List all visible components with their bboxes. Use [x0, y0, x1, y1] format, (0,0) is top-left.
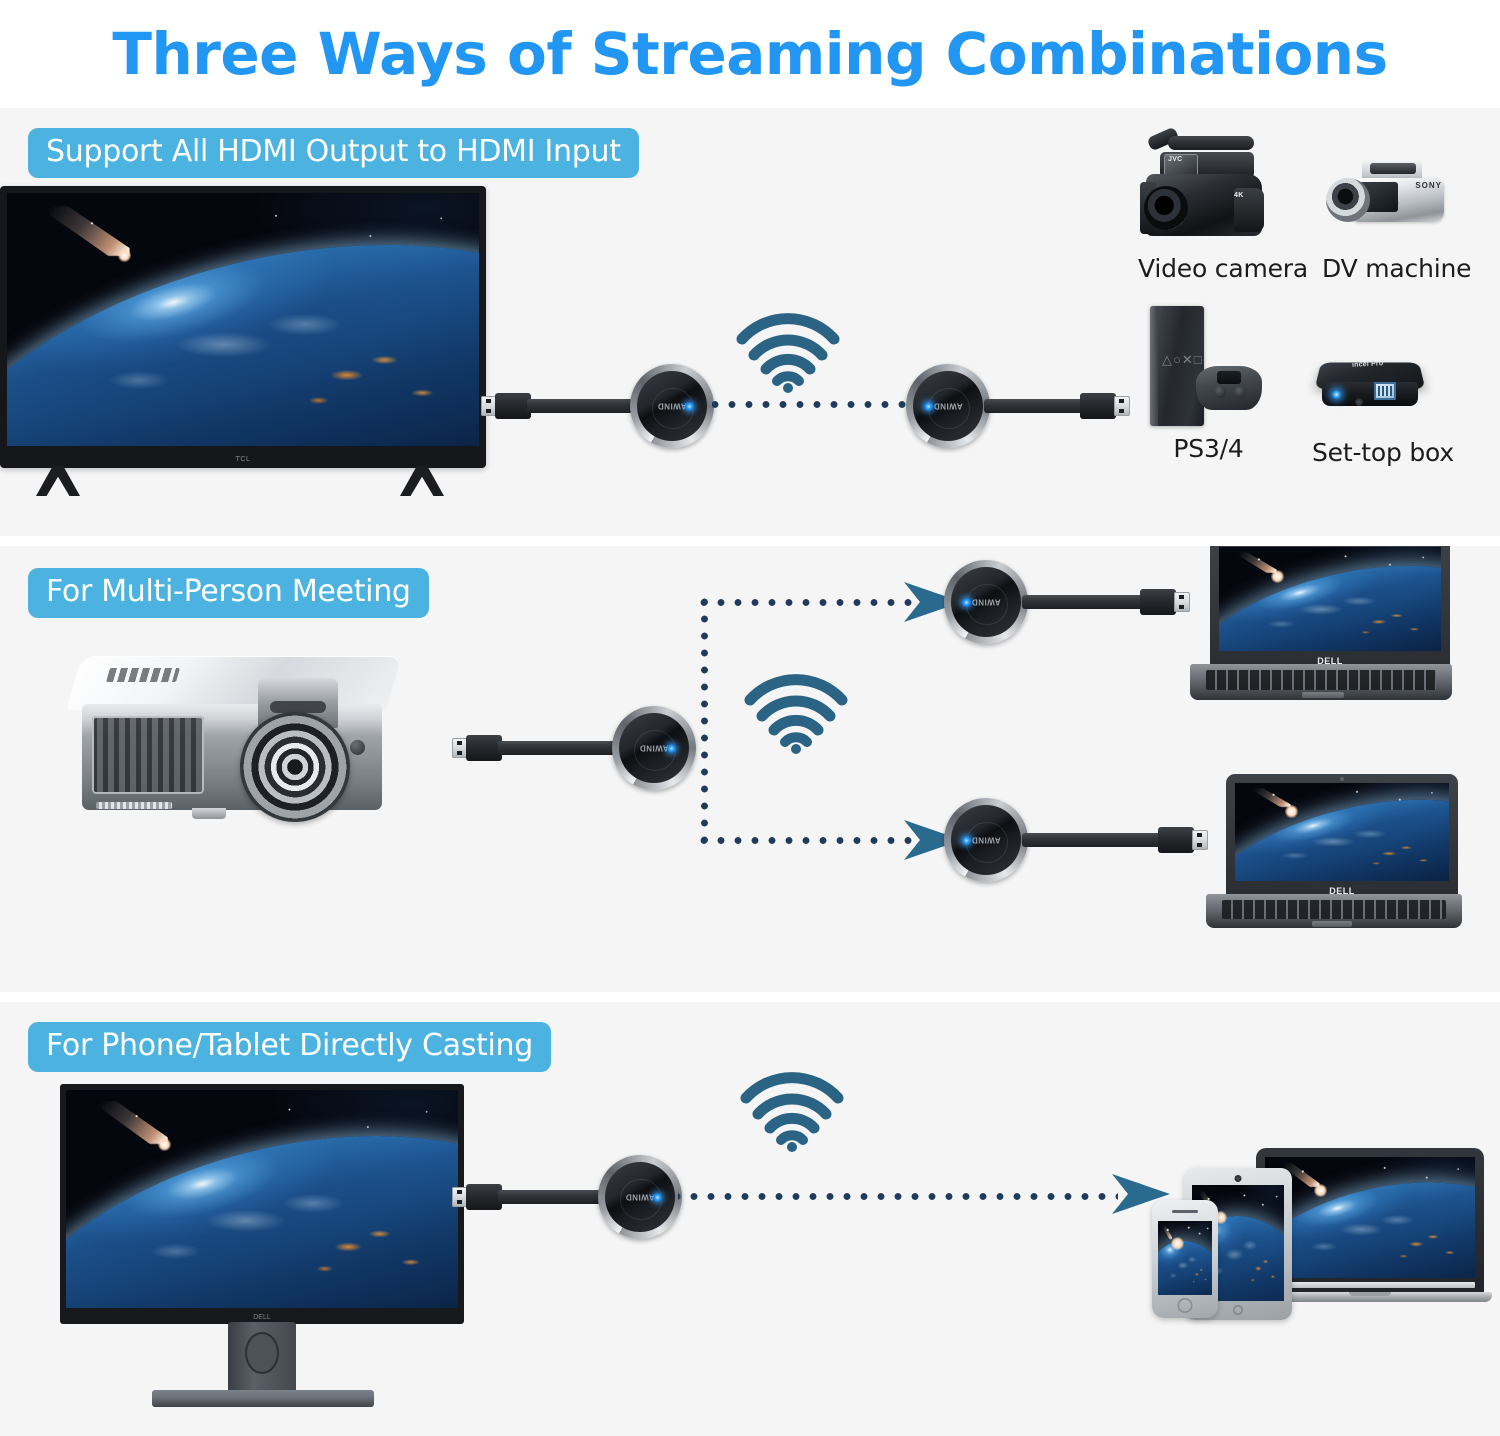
source-caption-dv-machine: DV machine [1322, 254, 1452, 283]
dongle-brand-mark: AWIND [625, 1193, 654, 1202]
section-label-meeting: For Multi-Person Meeting [28, 568, 429, 618]
camcorder-handle [1168, 136, 1254, 150]
camcorder-lens [1144, 186, 1188, 230]
tv-leg-right [400, 466, 444, 496]
laptop-bottom: DELL [1212, 774, 1444, 898]
gamepad-stick-left [1214, 386, 1226, 398]
comet-head-icon [1285, 805, 1298, 818]
dongle-led-icon [962, 598, 971, 607]
hdmi-tip-source [1114, 396, 1130, 416]
wireless-link-dotted-line [712, 400, 922, 409]
laptop-webcam-icon [1340, 777, 1344, 781]
hdmi-plug-source [1080, 393, 1116, 419]
section-multi-person-meeting: For Multi-Person Meeting AWIND [0, 546, 1500, 992]
page-title: Three Ways of Streaming Combinations [112, 20, 1387, 88]
dongle-cable-laptop-bottom [1022, 833, 1162, 847]
comet-head-icon [118, 249, 131, 262]
transmitter-dongle-source[interactable]: AWIND [906, 364, 990, 448]
gamepad-stick-right [1234, 386, 1246, 398]
source-caption-set-top-box: Set-top box [1312, 438, 1452, 467]
handycam-brand-label: SONY [1415, 181, 1442, 190]
projector-top-shell [66, 656, 401, 710]
tv-display: TCL [0, 186, 486, 468]
monitor-brand-label: DELL [253, 1314, 271, 1321]
tablet-home-button[interactable] [1233, 1305, 1243, 1315]
macbook-screen [1265, 1157, 1475, 1278]
dongle-brand-mark: AWIND [971, 836, 1000, 845]
branch-vertical-line [700, 598, 709, 844]
stb-port-icon [1355, 398, 1363, 406]
laptop-lid: DELL [1226, 774, 1458, 898]
camcorder-icon: JVC 4K [1138, 130, 1276, 248]
projector-vent-slots [96, 802, 172, 809]
source-caption-video-camera: Video camera [1138, 254, 1278, 283]
stb-chip-badge [1374, 382, 1396, 400]
macbook-notch [1349, 1292, 1391, 1296]
monitor-cable-hole [245, 1332, 279, 1374]
receiver-dongle-tv[interactable]: AWIND [630, 364, 714, 448]
macbook-bottom-bezel [1265, 1282, 1475, 1288]
comet-head-icon [1271, 570, 1284, 583]
dongle-led-icon [962, 836, 971, 845]
dongle-led-icon [653, 1193, 662, 1202]
comet-head-icon [1171, 1237, 1184, 1250]
source-ps34: △○✕□ PS3/4 [1146, 304, 1271, 463]
dongle-cable-laptop-top [1022, 595, 1144, 609]
source-set-top-box: incei Pro Set-top box [1312, 352, 1452, 467]
smartphone-screen [1158, 1221, 1212, 1295]
handycam-viewfinder [1370, 163, 1416, 174]
dongle-cable-monitor [498, 1190, 606, 1204]
monitor-display: DELL [60, 1084, 464, 1324]
projector-sensor-icon [350, 740, 365, 755]
dongle-brand-mark: AWIND [971, 598, 1000, 607]
dongle-led-icon [667, 744, 676, 753]
dongle-brand-mark: AWIND [657, 402, 686, 411]
section-label-casting: For Phone/Tablet Directly Casting [28, 1022, 551, 1072]
laptop-trackpad-top[interactable] [1302, 692, 1344, 698]
projector-vent-grille [92, 716, 204, 794]
laptop-trackpad-bottom[interactable] [1312, 921, 1352, 927]
source-video-camera: JVC 4K Video camera [1138, 130, 1278, 283]
wifi-icon [740, 1072, 844, 1152]
set-top-box-icon: incei Pro [1312, 352, 1428, 424]
projector-foot [192, 808, 226, 819]
tv-screen [7, 193, 479, 446]
section-phone-tablet-casting: For Phone/Tablet Directly Casting DELL A… [0, 1002, 1500, 1436]
dongle-cable-left [527, 399, 637, 413]
laptop-top: DELL [1196, 546, 1436, 668]
wifi-icon [736, 313, 840, 393]
stb-led-icon [1332, 390, 1341, 399]
hdmi-tip-laptop-bottom [1192, 830, 1208, 850]
camcorder-badge-4k: 4K [1234, 192, 1244, 199]
wifi-icon [744, 674, 848, 754]
monitor-stand-base [152, 1390, 374, 1407]
tablet-camera-icon [1235, 1175, 1242, 1182]
handycam-lens [1326, 178, 1370, 222]
hdmi-plug-projector [466, 735, 502, 761]
section-label-hdmi: Support All HDMI Output to HDMI Input [28, 128, 639, 178]
source-dv-machine: SONY Handycam DV machine [1322, 150, 1452, 283]
branch-bottom-line [700, 836, 912, 845]
projector-lens [240, 712, 350, 822]
tv-brand-label: TCL [236, 456, 251, 463]
wireless-link-dotted-line [678, 1192, 1118, 1201]
laptop-keyboard-bottom[interactable] [1222, 900, 1446, 919]
smartphone-home-button[interactable] [1178, 1298, 1193, 1313]
laptop-screen [1235, 783, 1449, 881]
gamepad-icon [1196, 366, 1262, 410]
hdmi-plug-laptop-bottom [1158, 827, 1194, 853]
hdmi-plug-monitor [466, 1184, 502, 1210]
gamepad-touchpad [1217, 371, 1241, 384]
branch-top-line [700, 598, 912, 607]
hdmi-tip-laptop-top [1174, 592, 1190, 612]
transmitter-dongle-projector[interactable]: AWIND [612, 706, 696, 790]
hdmi-plug-laptop-top [1140, 589, 1176, 615]
handycam-icon: SONY Handycam [1322, 150, 1448, 242]
smartphone-body [1152, 1200, 1218, 1318]
console-edge [1150, 306, 1158, 426]
projector-device [74, 656, 404, 826]
source-caption-ps34: PS3/4 [1146, 434, 1271, 463]
dongle-led-icon [685, 402, 694, 411]
smartphone-device [1152, 1200, 1218, 1318]
page-header: Three Ways of Streaming Combinations [0, 0, 1500, 108]
laptop-screen [1219, 547, 1441, 651]
laptop-lid: DELL [1210, 546, 1450, 668]
receiver-dongle-laptop-top[interactable]: AWIND [944, 560, 1028, 644]
dongle-brand-mark: AWIND [639, 744, 668, 753]
monitor-screen [66, 1090, 458, 1308]
panel-divider-1 [0, 536, 1500, 546]
camcorder-brand-label: JVC [1168, 156, 1183, 163]
dongle-cable-right [984, 399, 1084, 413]
hdmi-plug-tv [495, 393, 531, 419]
smartphone-earpiece-icon [1172, 1210, 1198, 1213]
receiver-dongle-monitor[interactable]: AWIND [598, 1155, 682, 1239]
comet-head-icon [158, 1138, 171, 1151]
dongle-led-icon [924, 402, 933, 411]
projector-logo [106, 668, 180, 682]
comet-head-icon [1314, 1184, 1327, 1197]
laptop-keyboard-top[interactable] [1206, 670, 1436, 690]
game-console-icon: △○✕□ [1146, 304, 1266, 430]
section-hdmi-output-to-input: Support All HDMI Output to HDMI Input TC… [0, 108, 1500, 536]
dongle-cable-projector [498, 741, 618, 755]
tv-leg-left [36, 466, 80, 496]
dongle-brand-mark: AWIND [933, 402, 962, 411]
panel-divider-2 [0, 992, 1500, 1002]
receiver-dongle-laptop-bottom[interactable]: AWIND [944, 798, 1028, 882]
